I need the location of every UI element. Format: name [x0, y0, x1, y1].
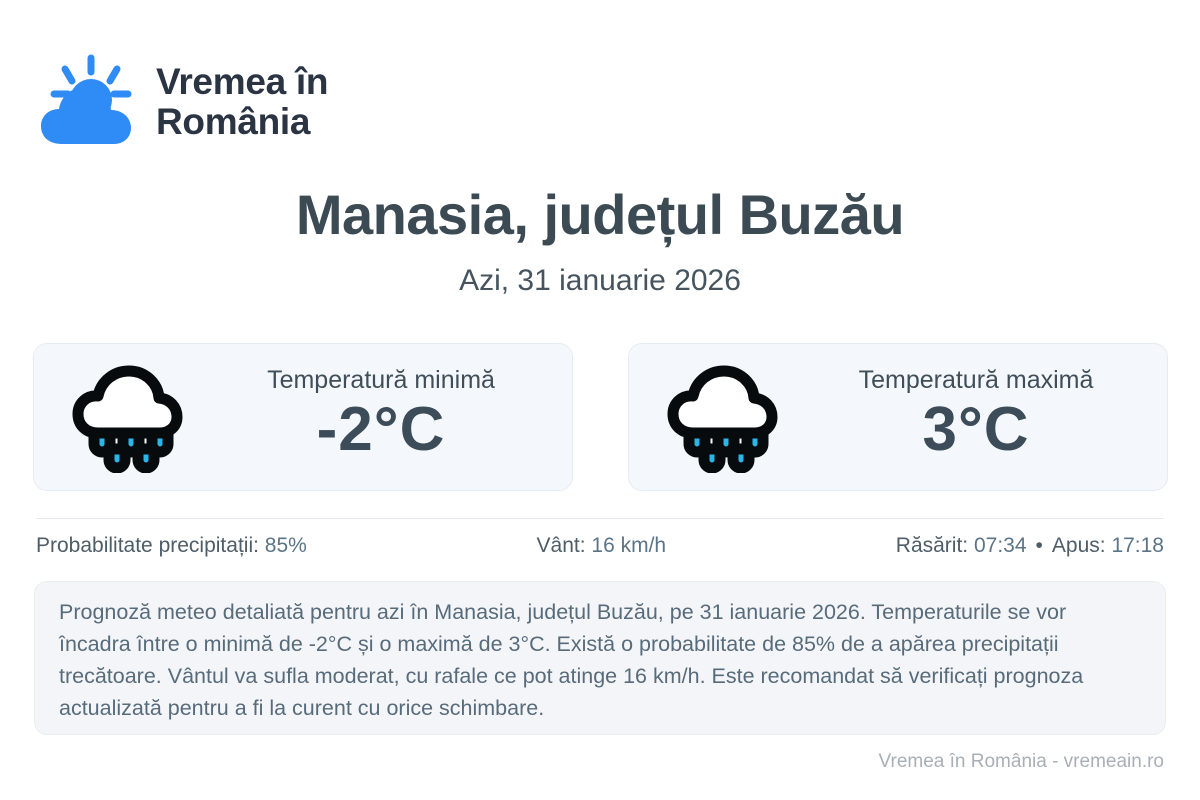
wind-label: Vânt: [537, 534, 592, 557]
temperature-cards: Temperatură minimă -2°C Temperatură maxi… [33, 343, 1168, 491]
min-temperature-body: Temperatură minimă -2°C [208, 365, 554, 464]
wind-stat: Vânt: 16 km/h [307, 534, 896, 558]
min-temperature-value: -2°C [317, 395, 446, 464]
stats-divider [36, 518, 1164, 519]
weather-stats-row: Probabilitate precipitații: 85% Vânt: 16… [36, 534, 1164, 558]
sunset-value: 17:18 [1111, 534, 1164, 557]
precipitation-label: Probabilitate precipitații: [36, 534, 265, 557]
precipitation-value: 85% [265, 534, 307, 557]
sun-times-separator: • [1027, 534, 1052, 557]
max-temperature-body: Temperatură maximă 3°C [803, 365, 1149, 464]
sunset-label: Apus: [1052, 534, 1112, 557]
rain-cloud-icon [68, 361, 186, 473]
rain-cloud-icon [663, 361, 781, 473]
sun-times-stat: Răsărit: 07:34•Apus: 17:18 [896, 534, 1164, 558]
precipitation-stat: Probabilitate precipitații: 85% [36, 534, 307, 558]
page-title: Manasia, județul Buzău [0, 182, 1200, 247]
page-subtitle: Azi, 31 ianuarie 2026 [0, 264, 1200, 298]
max-temperature-label: Temperatură maximă [859, 365, 1094, 395]
forecast-description-text: Prognoză meteo detaliată pentru azi în M… [59, 596, 1141, 724]
sunrise-value: 07:34 [974, 534, 1027, 557]
sunrise-label: Răsărit: [896, 534, 974, 557]
sun-behind-cloud-icon [36, 52, 140, 152]
site-logo[interactable]: Vremea în România [36, 52, 328, 152]
forecast-description-panel: Prognoză meteo detaliată pentru azi în M… [34, 581, 1166, 735]
max-temperature-value: 3°C [922, 395, 1029, 464]
max-temperature-card: Temperatură maximă 3°C [628, 343, 1168, 491]
min-temperature-card: Temperatură minimă -2°C [33, 343, 573, 491]
site-logo-text: Vremea în România [156, 62, 328, 142]
min-temperature-label: Temperatură minimă [267, 365, 495, 395]
footer-credit: Vremea în România - vremeain.ro [879, 751, 1164, 773]
weather-page: Vremea în România Manasia, județul Buzău… [0, 0, 1200, 800]
wind-value: 16 km/h [591, 534, 666, 557]
